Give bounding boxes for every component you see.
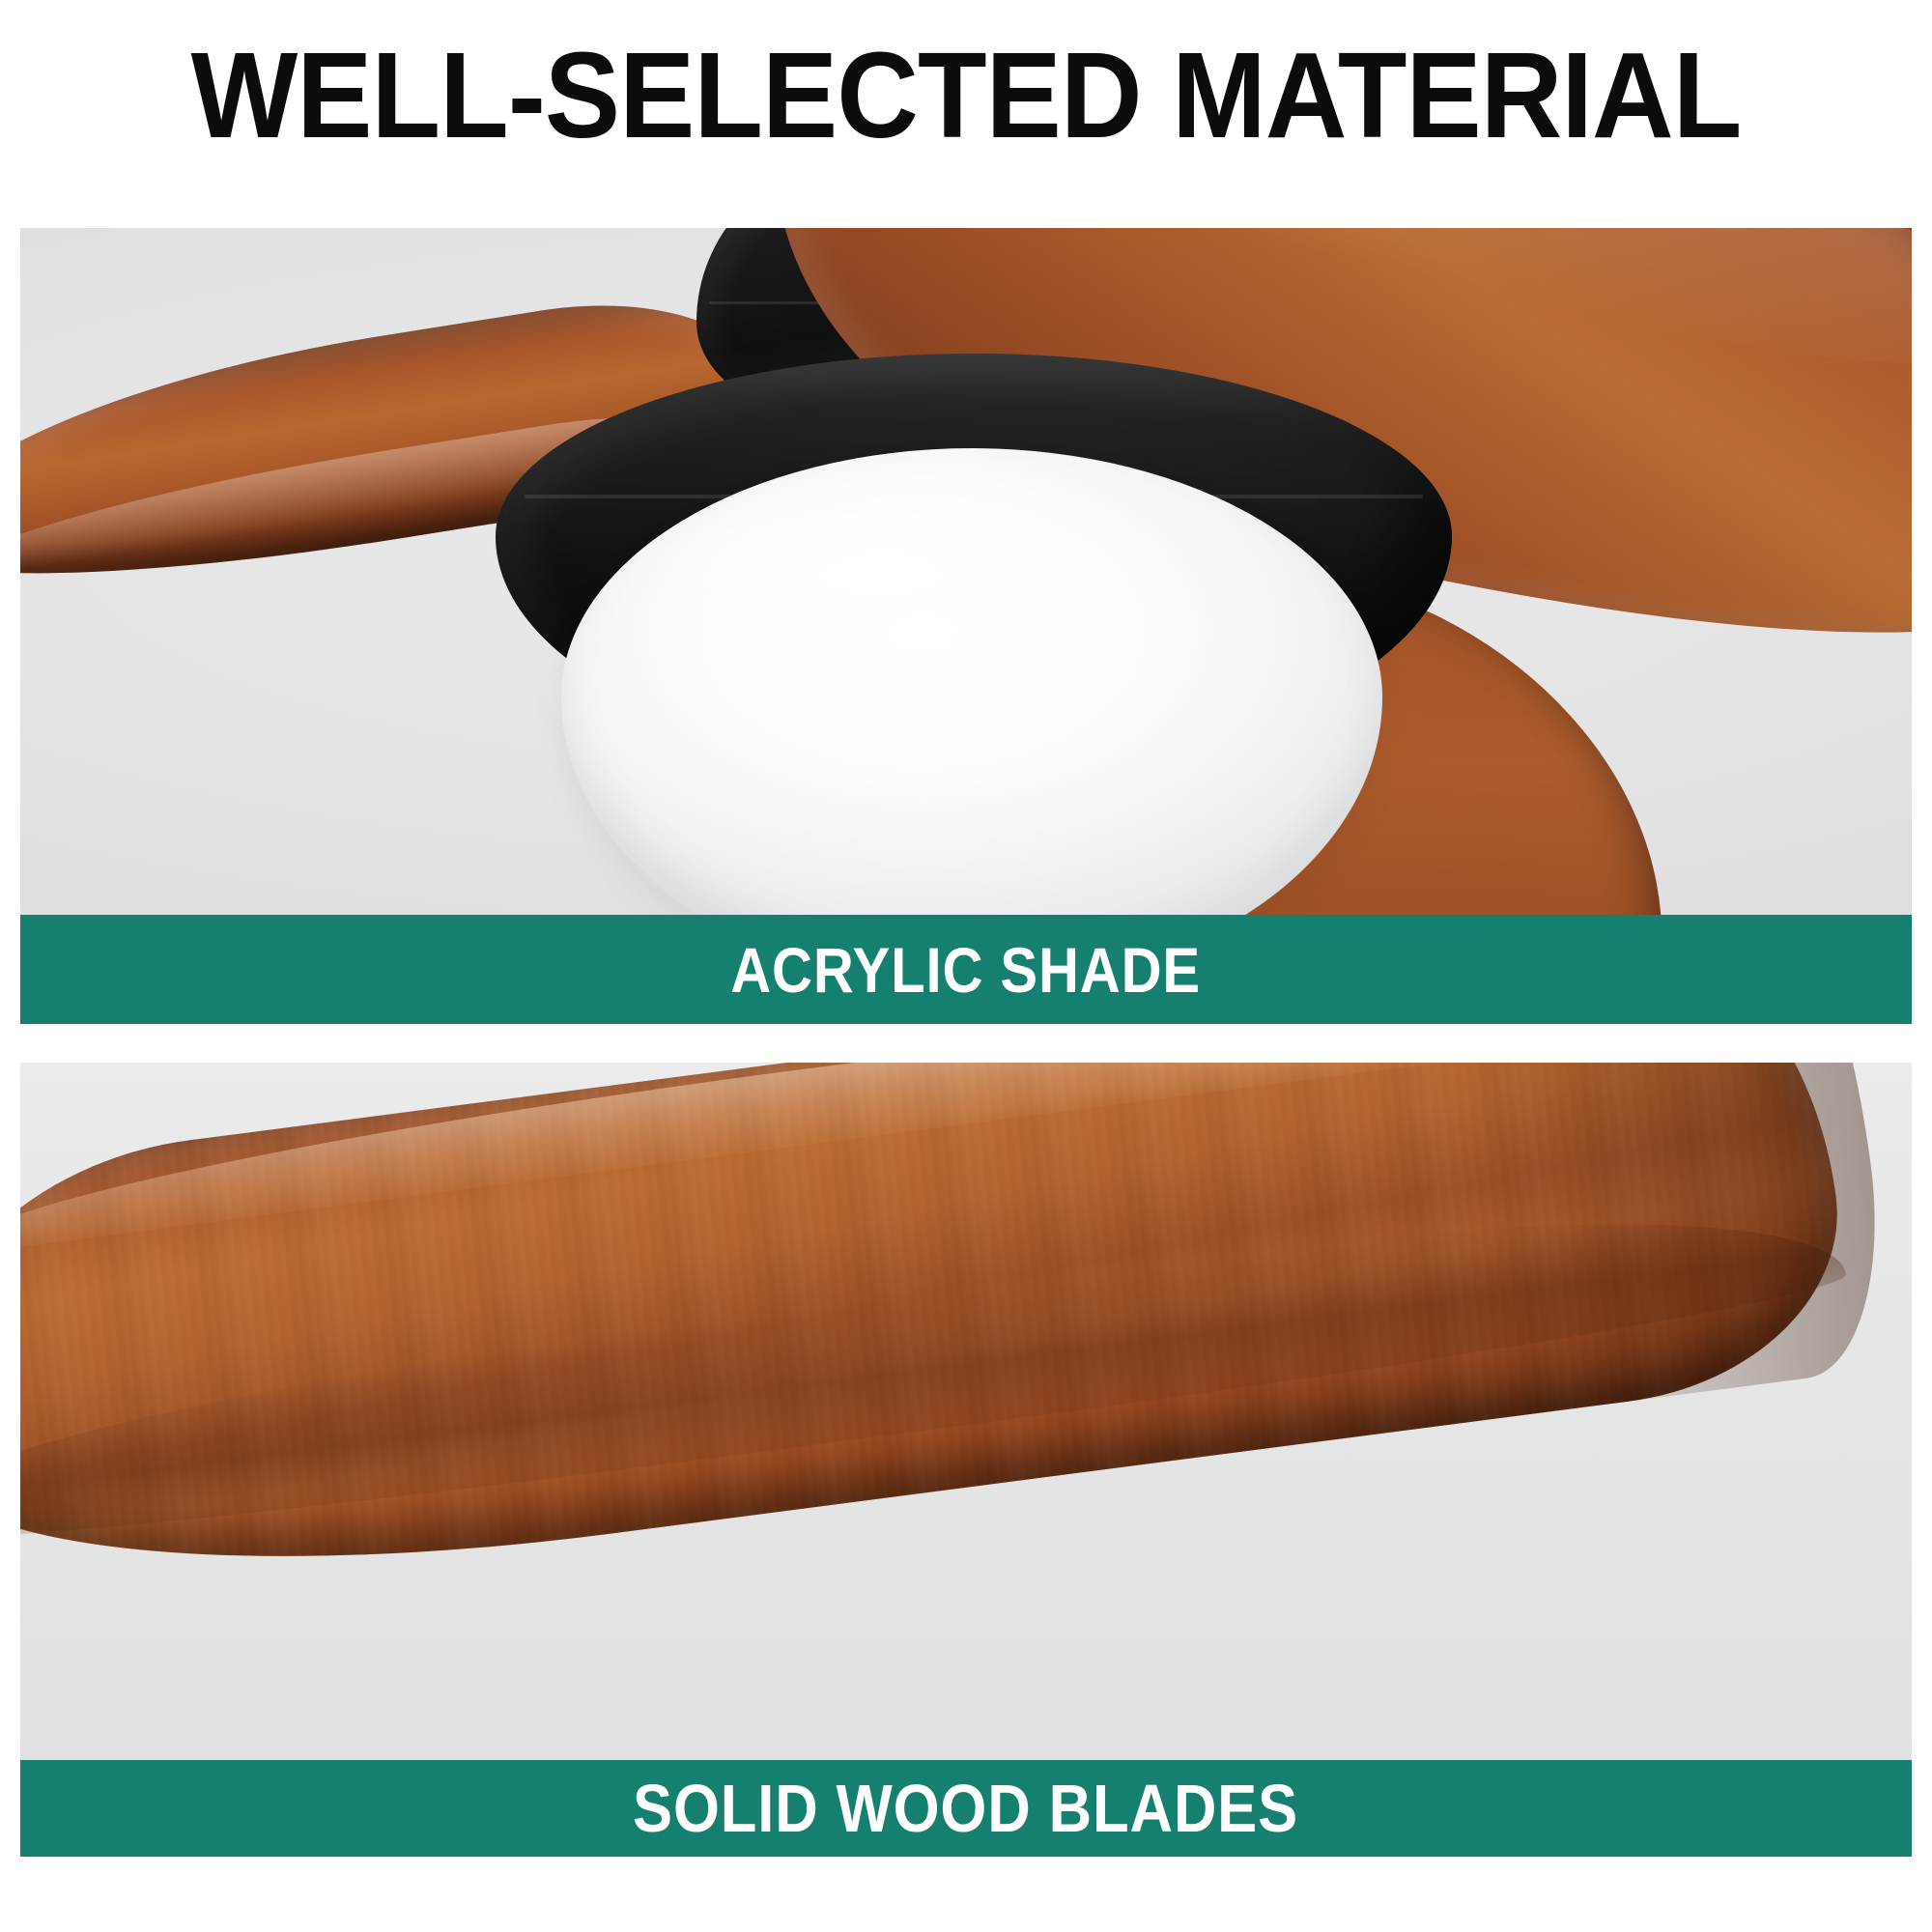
infographic-sheet: WELL-SELECTED MATERIAL ACRYLIC SHADE <box>0 0 1932 1932</box>
caption-label: ACRYLIC SHADE <box>731 938 1202 1002</box>
wood-blade-closeup <box>20 1063 1859 1619</box>
product-photo-acrylic-shade <box>20 228 1912 915</box>
product-photo-solid-wood-blade <box>20 1063 1912 1760</box>
caption-bar-solid-wood-blades: SOLID WOOD BLADES <box>20 1760 1912 1857</box>
caption-bar-acrylic-shade: ACRYLIC SHADE <box>20 915 1912 1024</box>
photo-backdrop <box>20 1063 1912 1760</box>
panel-acrylic-shade: ACRYLIC SHADE <box>20 228 1912 1024</box>
blade-tip-shading <box>1459 1063 1897 1416</box>
page-title: WELL-SELECTED MATERIAL <box>68 35 1864 156</box>
caption-label: SOLID WOOD BLADES <box>633 1775 1298 1842</box>
wood-blade-closeup-wrap <box>20 1063 1912 1760</box>
panel-solid-wood-blades: SOLID WOOD BLADES <box>20 1063 1912 1857</box>
photo-backdrop <box>20 228 1912 915</box>
